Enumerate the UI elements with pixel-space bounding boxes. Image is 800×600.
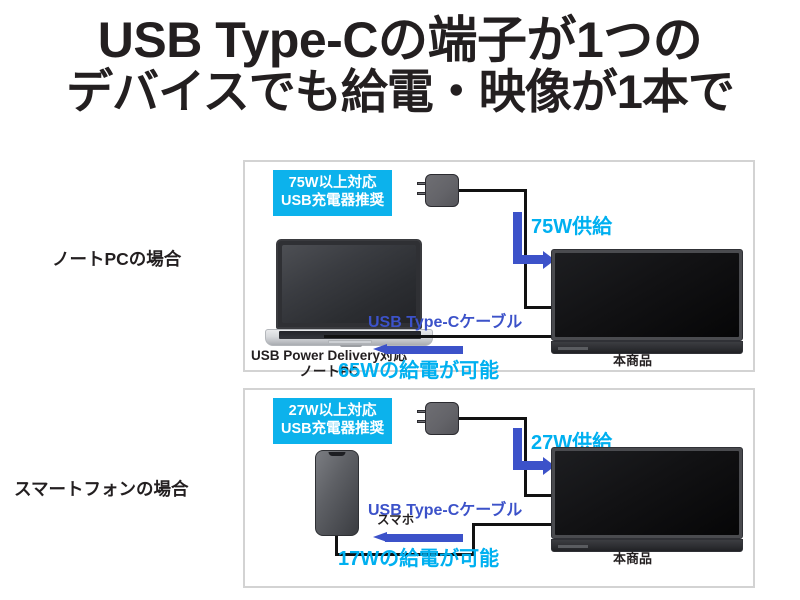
infographic-root: USB Type-Cの端子が1つの デバイスでも給電・映像が1本で ノートPCの… <box>0 0 800 600</box>
cable-usbc-phone-horizontal-2 <box>472 523 562 526</box>
laptop-front-notch <box>340 345 362 347</box>
laptop-trackpad <box>328 340 372 344</box>
power-adapter-icon <box>417 402 459 435</box>
product-label-smartphone: 本商品 <box>613 548 652 567</box>
cable-label-laptop: USB Type-Cケーブル <box>368 308 522 332</box>
badge-line-1: 27W以上対応 <box>281 403 384 421</box>
monitor-icon <box>551 447 743 539</box>
feed-arrow-tip <box>373 532 387 542</box>
badge-line-1: 75W以上対応 <box>281 175 384 193</box>
adapter-body <box>425 174 459 207</box>
adapter-body <box>425 402 459 435</box>
title-line-2: デバイスでも給電・映像が1本で <box>0 67 800 117</box>
monitor-screen <box>555 451 739 535</box>
badge-line-2: USB充電器推奨 <box>281 193 384 211</box>
supply-label-laptop: 75W供給 <box>531 210 612 239</box>
product-label-laptop: 本商品 <box>613 350 652 369</box>
supply-arrow-foot <box>513 255 543 264</box>
power-adapter-icon <box>417 174 459 207</box>
diagram-panel-laptop: 75W以上対応 USB充電器推奨 75W供給 <box>243 160 755 372</box>
monitor-icon <box>551 249 743 341</box>
diagram-panel-smartphone: 27W以上対応 USB充電器推奨 27W供給 スマホ <box>243 388 755 588</box>
monitor-brand-mark <box>558 545 588 548</box>
supply-arrow-foot <box>513 461 543 470</box>
badge-charger-requirement-smartphone: 27W以上対応 USB充電器推奨 <box>273 398 392 444</box>
case-label-laptop: ノートPCの場合 <box>52 246 181 271</box>
monitor-screen <box>555 253 739 337</box>
badge-charger-requirement-laptop: 75W以上対応 USB充電器推奨 <box>273 170 392 216</box>
feed-arrow-bar <box>385 534 463 542</box>
feed-arrow-bar <box>385 346 463 354</box>
cable-label-smartphone: USB Type-Cケーブル <box>368 496 522 520</box>
monitor-frame <box>551 447 743 539</box>
feed-arrow-tip <box>373 344 387 354</box>
feed-label-smartphone: 17Wの給電が可能 <box>338 542 499 571</box>
title-line-1: USB Type-Cの端子が1つの <box>0 14 800 67</box>
smartphone-notch <box>329 452 346 457</box>
monitor-frame <box>551 249 743 341</box>
case-label-smartphone: スマートフォンの場合 <box>14 476 58 562</box>
smartphone-icon <box>315 450 359 536</box>
badge-line-2: USB充電器推奨 <box>281 421 384 439</box>
cable-adapter-horizontal-1 <box>459 189 527 192</box>
cable-adapter-horizontal-1 <box>459 417 527 420</box>
monitor-brand-mark <box>558 347 588 350</box>
page-title: USB Type-Cの端子が1つの デバイスでも給電・映像が1本で <box>0 14 800 117</box>
feed-label-laptop: 65Wの給電が可能 <box>338 354 499 383</box>
cable-usbc-laptop <box>324 335 560 338</box>
smartphone-shell <box>315 450 359 536</box>
